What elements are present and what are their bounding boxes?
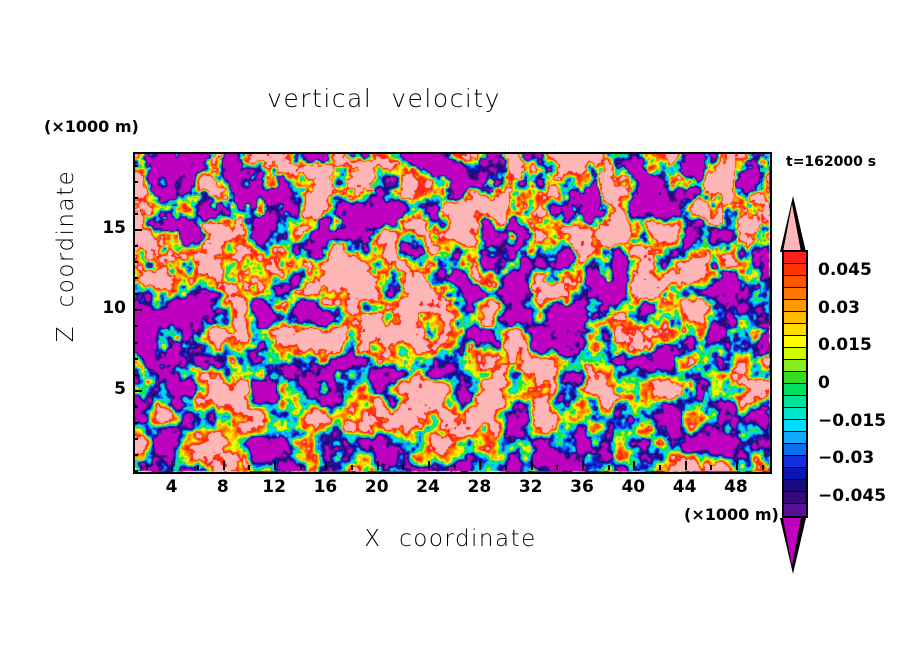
x-tick bbox=[146, 465, 148, 470]
colorbar-tick-label: 0.045 bbox=[818, 260, 872, 280]
y-tick bbox=[133, 213, 138, 215]
x-tick bbox=[223, 461, 225, 470]
colorbar-tick-label: −0.03 bbox=[818, 448, 874, 468]
x-tick bbox=[300, 465, 302, 470]
y-tick-label: 10 bbox=[86, 298, 126, 318]
vertical-velocity-field bbox=[135, 154, 770, 472]
x-tick bbox=[454, 465, 456, 470]
y-tick bbox=[133, 342, 138, 344]
colorbar-band bbox=[784, 264, 806, 276]
colorbar-band bbox=[784, 396, 806, 408]
x-tick-label: 28 bbox=[457, 477, 501, 497]
colorbar-band bbox=[784, 408, 806, 420]
y-axis-title: Z coordinate bbox=[53, 156, 79, 356]
colorbar-under-arrow-fill bbox=[783, 518, 801, 566]
x-tick bbox=[402, 465, 404, 470]
x-tick bbox=[556, 465, 558, 470]
page-title: vertical velocity bbox=[0, 84, 768, 113]
x-tick bbox=[377, 461, 379, 470]
colorbar-band bbox=[784, 492, 806, 504]
colorbar-band bbox=[784, 348, 806, 360]
colorbar-band bbox=[784, 504, 806, 516]
x-tick-label: 24 bbox=[406, 477, 450, 497]
x-tick bbox=[685, 461, 687, 470]
x-tick bbox=[248, 465, 250, 470]
colorbar-band bbox=[784, 336, 806, 348]
colorbar-band bbox=[784, 372, 806, 384]
colorbar-band bbox=[784, 288, 806, 300]
x-tick bbox=[659, 465, 661, 470]
x-tick-label: 8 bbox=[201, 477, 245, 497]
x-tick-label: 16 bbox=[303, 477, 347, 497]
x-tick bbox=[608, 465, 610, 470]
y-tick bbox=[133, 454, 138, 456]
x-tick bbox=[710, 465, 712, 470]
colorbar-bands bbox=[782, 250, 808, 518]
colorbar-tick-label: −0.015 bbox=[818, 411, 886, 431]
x-tick-label: 44 bbox=[663, 477, 707, 497]
y-tick-label: 15 bbox=[86, 218, 126, 238]
y-tick bbox=[133, 309, 142, 311]
x-tick-label: 4 bbox=[149, 477, 193, 497]
y-tick bbox=[133, 165, 138, 167]
x-tick bbox=[505, 465, 507, 470]
y-tick bbox=[133, 229, 142, 231]
colorbar-tick-label: −0.045 bbox=[818, 486, 886, 506]
y-tick bbox=[133, 325, 138, 327]
y-tick bbox=[133, 422, 138, 424]
x-tick-label: 20 bbox=[355, 477, 399, 497]
x-tick bbox=[325, 461, 327, 470]
x-tick bbox=[479, 461, 481, 470]
colorbar-tick-label: 0 bbox=[818, 373, 830, 393]
colorbar-over-arrow-fill bbox=[783, 204, 801, 252]
x-axis-title: X coordinate bbox=[133, 526, 768, 552]
colorbar-band bbox=[784, 456, 806, 468]
colorbar-band bbox=[784, 384, 806, 396]
y-tick bbox=[133, 406, 138, 408]
y-tick bbox=[133, 374, 138, 376]
colorbar-band bbox=[784, 360, 806, 372]
colorbar-tick-label: 0.015 bbox=[818, 335, 872, 355]
figure-canvas: vertical velocity (×1000 m) (×1000 m) t=… bbox=[0, 0, 904, 654]
y-tick bbox=[133, 261, 138, 263]
colorbar-band bbox=[784, 468, 806, 480]
x-tick bbox=[633, 461, 635, 470]
heatmap-plot-area bbox=[133, 152, 772, 474]
x-tick-label: 48 bbox=[714, 477, 758, 497]
x-tick bbox=[531, 461, 533, 470]
colorbar-tick-label: 0.03 bbox=[818, 298, 860, 318]
y-axis-unit-label: (×1000 m) bbox=[44, 117, 139, 136]
x-tick-label: 12 bbox=[252, 477, 296, 497]
x-tick-label: 36 bbox=[560, 477, 604, 497]
x-tick-label: 32 bbox=[509, 477, 553, 497]
x-tick-label: 40 bbox=[611, 477, 655, 497]
y-tick bbox=[133, 277, 138, 279]
x-tick bbox=[736, 461, 738, 470]
x-axis-unit-label: (×1000 m) bbox=[684, 505, 779, 524]
colorbar-band bbox=[784, 252, 806, 264]
colorbar-band bbox=[784, 324, 806, 336]
colorbar-band bbox=[784, 432, 806, 444]
y-tick bbox=[133, 358, 138, 360]
colorbar-band bbox=[784, 300, 806, 312]
y-tick bbox=[133, 390, 142, 392]
colorbar-band bbox=[784, 276, 806, 288]
y-tick bbox=[133, 181, 138, 183]
y-tick bbox=[133, 293, 138, 295]
y-tick bbox=[133, 470, 138, 472]
x-tick bbox=[171, 461, 173, 470]
y-tick-label: 5 bbox=[86, 379, 126, 399]
x-tick bbox=[274, 461, 276, 470]
colorbar-band bbox=[784, 312, 806, 324]
colorbar-band bbox=[784, 444, 806, 456]
colorbar-band bbox=[784, 480, 806, 492]
y-tick bbox=[133, 197, 138, 199]
x-tick bbox=[197, 465, 199, 470]
x-tick bbox=[351, 465, 353, 470]
x-tick bbox=[582, 461, 584, 470]
time-stamp-label: t=162000 s bbox=[786, 154, 876, 170]
y-tick bbox=[133, 438, 138, 440]
x-tick bbox=[762, 465, 764, 470]
colorbar-band bbox=[784, 420, 806, 432]
x-tick bbox=[428, 461, 430, 470]
y-tick bbox=[133, 245, 138, 247]
